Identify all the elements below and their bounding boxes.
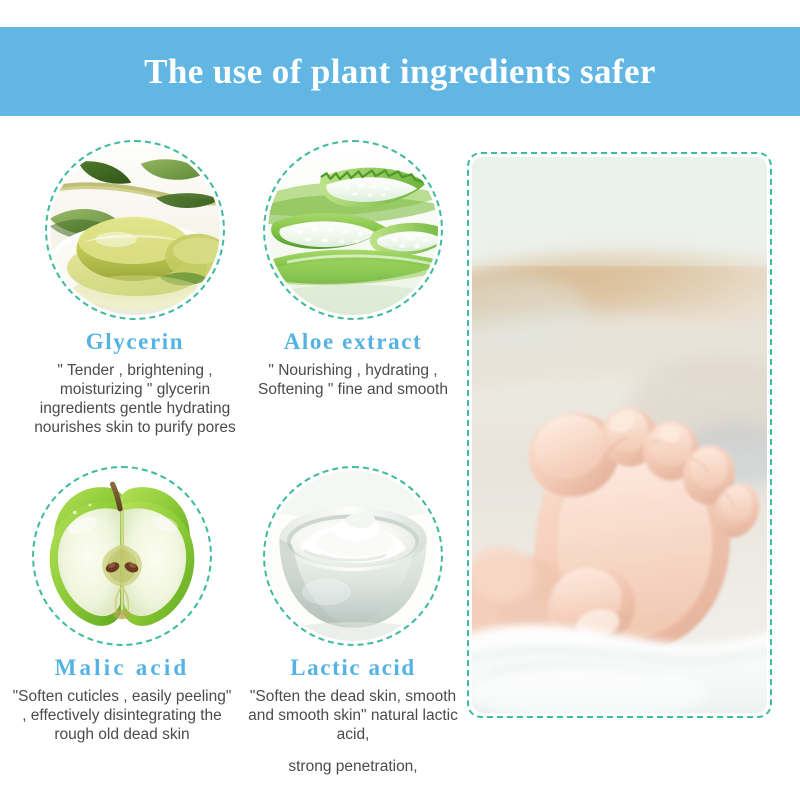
ingredient-image-circle <box>263 140 443 320</box>
ingredient-card-aloe-extract: Aloe extract " Nourishing , hydrating , … <box>238 140 468 400</box>
ingredient-description: " Nourishing , hydrating , Softening " f… <box>238 362 468 400</box>
ingredient-description-line: "Soften the dead skin, smooth and smooth… <box>240 688 466 745</box>
ingredient-description: " Tender , brightening , moisturizing " … <box>20 362 250 438</box>
promo-page: The use of plant ingredients safer <box>0 0 800 800</box>
ingredient-description-line: " Tender , brightening , moisturizing " … <box>22 362 248 438</box>
olive-oil-photo <box>50 145 220 315</box>
ingredient-title: Malic acid <box>7 655 237 680</box>
ingredient-description-line: "Soften cuticles , easily peeling" , eff… <box>9 688 235 745</box>
ingredient-card-lactic-acid: Lactic acid "Soften the dead skin, smoot… <box>238 466 468 777</box>
product-photo-panel <box>467 152 772 718</box>
ingredient-image-circle <box>32 466 212 646</box>
ingredient-image-circle <box>45 140 225 320</box>
green-apple-halves-photo <box>37 471 207 641</box>
page-title: The use of plant ingredients safer <box>144 54 656 89</box>
ingredient-description: "Soften cuticles , easily peeling" , eff… <box>7 688 237 745</box>
ingredient-description-line: strong penetration, <box>240 758 466 777</box>
ingredient-title: Glycerin <box>20 329 250 354</box>
baby-feet-closeup-photo <box>472 157 767 713</box>
ingredient-grid: Glycerin " Tender , brightening , moistu… <box>0 140 460 800</box>
ingredient-title: Lactic acid <box>238 655 468 680</box>
aloe-vera-slices-photo <box>268 145 438 315</box>
white-cream-bowl-photo <box>268 471 438 641</box>
ingredient-description-line: " Nourishing , hydrating , Softening " f… <box>240 362 466 400</box>
ingredient-card-glycerin: Glycerin " Tender , brightening , moistu… <box>20 140 250 438</box>
header-banner: The use of plant ingredients safer <box>0 27 800 116</box>
ingredient-description: "Soften the dead skin, smooth and smooth… <box>238 688 468 777</box>
ingredient-title: Aloe extract <box>238 329 468 354</box>
ingredient-card-malic-acid: Malic acid "Soften cuticles , easily pee… <box>7 466 237 745</box>
ingredient-image-circle <box>263 466 443 646</box>
